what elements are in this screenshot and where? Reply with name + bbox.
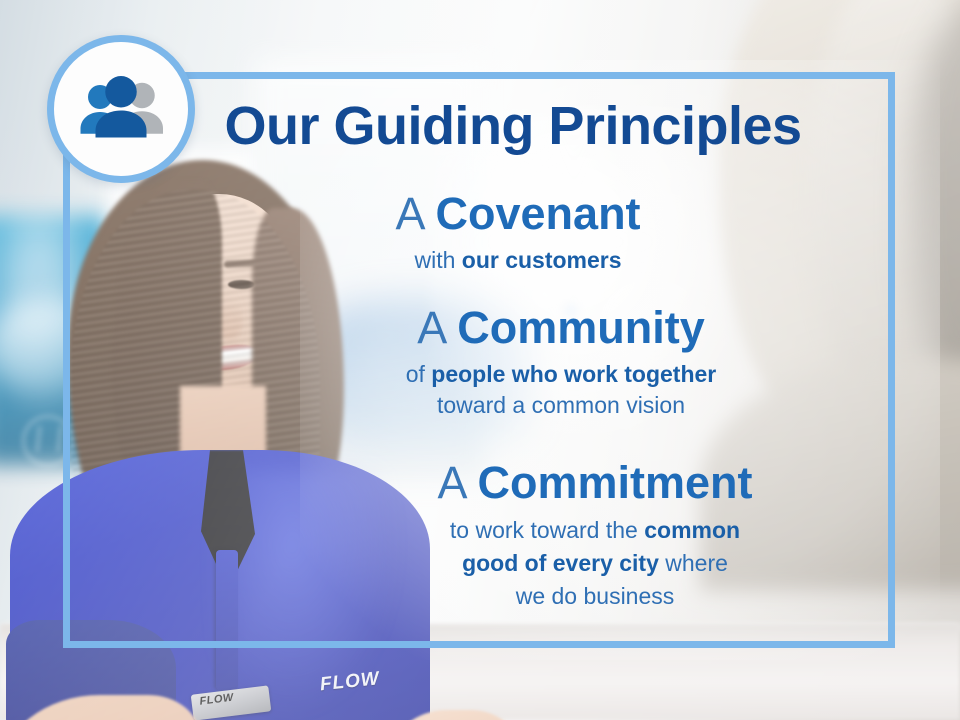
subtext-emphasis: people who work together xyxy=(431,361,716,387)
principle-article: A xyxy=(437,457,465,508)
subtext-emphasis: good of every city xyxy=(462,550,659,576)
subtext-plain: to work toward the xyxy=(450,517,644,543)
page-title: Our Guiding Principles xyxy=(163,96,863,156)
poster-canvas: FLOW FLOW Our Guiding xyxy=(0,0,960,720)
principle-article: A xyxy=(395,188,423,239)
principle-keyword: Covenant xyxy=(436,188,641,239)
principle-headline-commitment: A Commitment xyxy=(315,457,875,509)
subtext-emphasis: our customers xyxy=(462,247,622,273)
subtext-plain: with xyxy=(414,247,461,273)
subtext-plain: of xyxy=(406,361,432,387)
principle-keyword: Community xyxy=(457,302,705,353)
subtext-plain: where xyxy=(659,550,728,576)
principle-headline-covenant: A Covenant xyxy=(238,188,798,240)
subtext-plain: toward a common vision xyxy=(437,392,685,418)
subtext-emphasis: common xyxy=(644,517,740,543)
name-badge-brand: FLOW xyxy=(199,692,235,708)
poster-text: Our Guiding Principles A Covenant with o… xyxy=(63,72,895,648)
principle-subtext-covenant: with our customers xyxy=(238,245,798,276)
principle-subtext-community: of people who work togethertoward a comm… xyxy=(281,359,841,421)
principle-commitment: A Commitment to work toward the commongo… xyxy=(315,457,875,613)
principle-keyword: Commitment xyxy=(478,457,753,508)
principle-headline-community: A Community xyxy=(281,302,841,354)
principle-covenant: A Covenant with our customers xyxy=(238,188,798,276)
name-badge-subline xyxy=(201,708,204,714)
subtext-plain: we do business xyxy=(516,583,675,609)
principle-article: A xyxy=(417,302,445,353)
principle-subtext-commitment: to work toward the commongood of every c… xyxy=(315,514,875,613)
principle-community: A Community of people who work togethert… xyxy=(281,302,841,421)
